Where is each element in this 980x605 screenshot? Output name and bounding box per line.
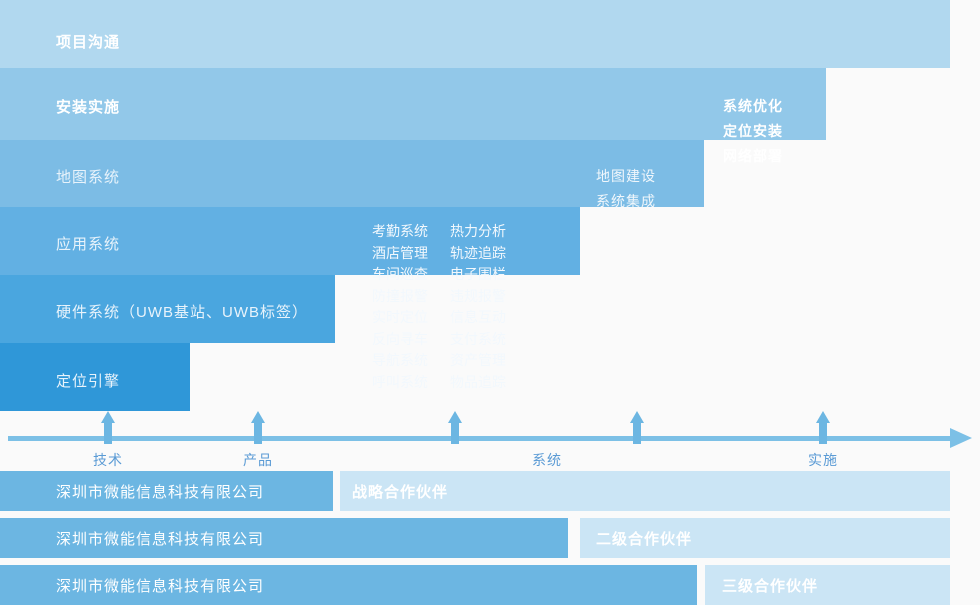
partner-company-label: 深圳市微能信息科技有限公司 [56,471,264,511]
feature-item: 实时定位 [372,307,428,329]
feature-item: 酒店管理 [372,243,428,265]
side-note-line: 系统集成 [596,189,656,214]
partner-tag-label: 三级合作伙伴 [722,565,818,605]
side-note-implementation: 系统优化 定位安装 网络部署 [723,94,783,169]
application-feature-matrix: 考勤系统 酒店管理 车间巡查 防撞报警 实时定位 反向寻车 导航系统 呼叫系统 … [372,221,506,393]
feature-item: 热力分析 [450,221,506,243]
feature-item: 反向寻车 [372,329,428,351]
architecture-diagram: 项目沟通 安装实施 地图系统 应用系统 硬件系统（UWB基站、UWB标签） 定位… [0,0,980,603]
layer-label-map-system: 地图系统 [56,166,120,187]
feature-item: 物品追踪 [450,372,506,394]
feature-item: 防撞报警 [372,286,428,308]
feature-column-right: 热力分析 轨迹追踪 电子围栏 违规报警 信息互动 支付系统 资产管理 物品追踪 [450,221,506,393]
feature-item: 违规报警 [450,286,506,308]
feature-item: 支付系统 [450,329,506,351]
side-note-line: 地图建设 [596,164,656,189]
feature-column-left: 考勤系统 酒店管理 车间巡查 防撞报警 实时定位 反向寻车 导航系统 呼叫系统 [372,221,428,393]
feature-item: 考勤系统 [372,221,428,243]
side-note-system: 地图建设 系统集成 [596,164,656,214]
feature-item: 电子围栏 [450,264,506,286]
side-note-line: 网络部署 [723,144,783,169]
axis-tick-label-implementation: 实施 [808,450,838,470]
layer-label-positioning-engine: 定位引擎 [56,370,120,391]
side-note-line: 系统优化 [723,94,783,119]
partner-row: 深圳市微能信息科技有限公司 战略合作伙伴 [0,471,950,511]
partner-tag-label: 二级合作伙伴 [596,518,692,558]
layer-label-hardware-system: 硬件系统（UWB基站、UWB标签） [56,301,308,322]
feature-item: 资产管理 [450,350,506,372]
axis-tick-label-product: 产品 [243,450,273,470]
timeline-axis [8,436,952,441]
axis-tick-label-technology: 技术 [93,450,123,470]
layer-label-installation: 安装实施 [56,96,120,117]
partner-company-label: 深圳市微能信息科技有限公司 [56,565,264,605]
layer-label-application-system: 应用系统 [56,233,120,254]
feature-item: 信息互动 [450,307,506,329]
axis-arrowhead-icon [950,428,972,448]
partner-row: 深圳市微能信息科技有限公司 三级合作伙伴 [0,565,950,605]
feature-item: 呼叫系统 [372,372,428,394]
layer-band-installation [0,68,826,140]
layer-band-project-communication [0,0,950,68]
feature-item: 车间巡查 [372,264,428,286]
partner-company-label: 深圳市微能信息科技有限公司 [56,518,264,558]
layer-label-project-communication: 项目沟通 [56,31,120,52]
partner-row: 深圳市微能信息科技有限公司 二级合作伙伴 [0,518,950,558]
feature-item: 轨迹追踪 [450,243,506,265]
side-note-line: 定位安装 [723,119,783,144]
partner-tag-label: 战略合作伙伴 [352,471,448,511]
feature-item: 导航系统 [372,350,428,372]
axis-tick-label-system: 系统 [532,450,562,470]
